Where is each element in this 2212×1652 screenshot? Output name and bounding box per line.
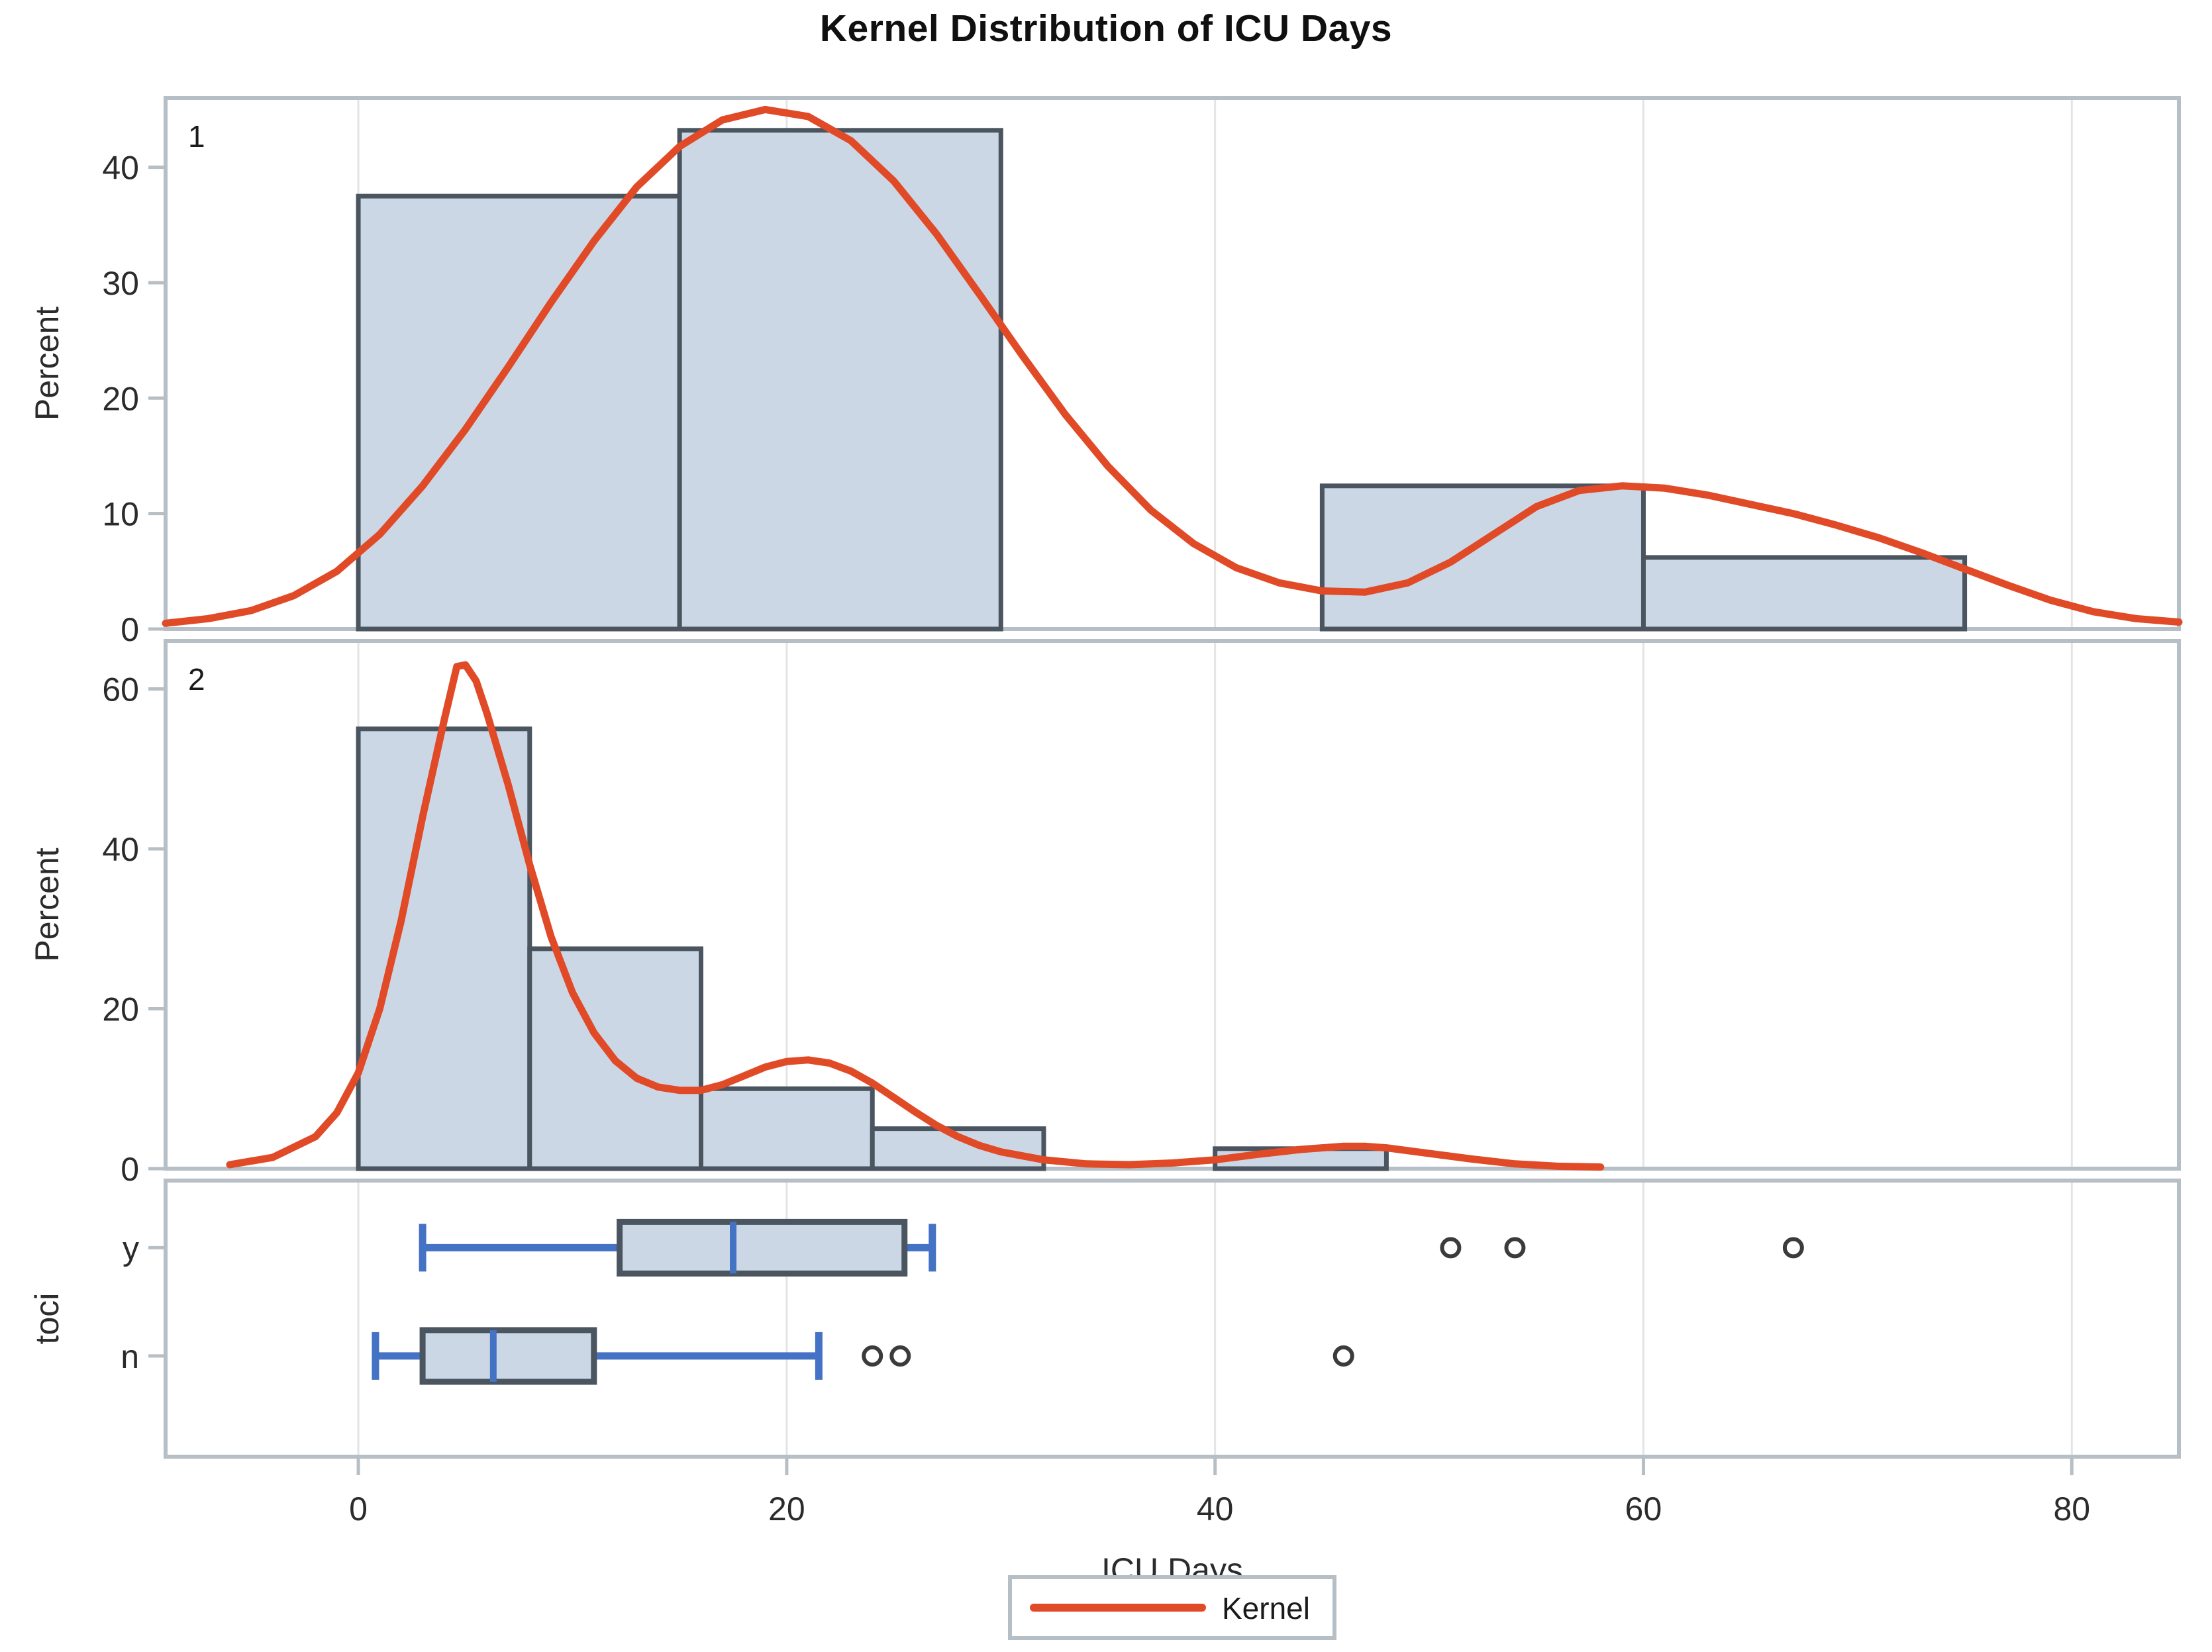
- panel-tag: 2: [188, 662, 205, 697]
- y-axis-tick-label: 10: [102, 496, 139, 533]
- boxplot-outlier: [864, 1347, 881, 1365]
- boxplot-y: [423, 1222, 1802, 1273]
- y-axis-tick-label: 40: [102, 150, 139, 187]
- panel-frame: [166, 1181, 2179, 1457]
- boxplot-outlier: [1335, 1347, 1352, 1365]
- boxplot-category-label: y: [123, 1230, 139, 1267]
- y-axis-tick-label: 20: [102, 380, 139, 417]
- panel-1-histogram: 010203040Percent1: [28, 109, 2179, 648]
- x-axis-tick-label: 60: [1625, 1490, 1662, 1528]
- boxplot-n: [376, 1330, 1352, 1382]
- y-axis-tick-label: 0: [121, 611, 139, 648]
- y-axis-tick-label: 40: [102, 831, 139, 868]
- histogram-bar: [1322, 486, 1643, 629]
- y-axis-tick-label: 20: [102, 991, 139, 1028]
- histogram-bar: [679, 130, 1001, 629]
- panel-3-boxplot: yntoci: [28, 1222, 1802, 1382]
- x-axis-tick-label: 40: [1197, 1490, 1234, 1528]
- histogram-bar: [358, 196, 679, 629]
- boxplot-outlier: [1442, 1239, 1459, 1256]
- boxplot-box: [423, 1330, 594, 1382]
- kernel-distribution-figure: 010203040Percent10204060Percent2yntoci02…: [0, 0, 2212, 1652]
- panel-2-histogram: 0204060Percent2: [28, 662, 1601, 1188]
- page-title: Kernel Distribution of ICU Days: [0, 7, 2212, 50]
- panel-tag: 1: [188, 119, 205, 154]
- y-axis-title: Percent: [28, 307, 66, 420]
- boxplot-box: [620, 1222, 905, 1273]
- y-axis-tick-label: 30: [102, 265, 139, 302]
- y-axis-tick-label: 60: [102, 671, 139, 708]
- histogram-bar: [1643, 558, 1964, 629]
- x-axis-tick-label: 20: [768, 1490, 805, 1528]
- panel-3-boxplot-frame: [166, 1181, 2179, 1457]
- legend-label-kernel: Kernel: [1222, 1591, 1310, 1626]
- histogram-bar: [701, 1089, 873, 1169]
- y-axis-title: Percent: [28, 848, 66, 961]
- legend: Kernel: [1010, 1577, 1334, 1638]
- boxplot-outlier: [1506, 1239, 1523, 1256]
- chart-root: Kernel Distribution of ICU Days 01020304…: [0, 0, 2212, 1652]
- x-axis-tick-label: 0: [349, 1490, 368, 1528]
- y-axis-tick-label: 0: [121, 1151, 139, 1188]
- y-axis-title-toci: toci: [28, 1293, 66, 1345]
- boxplot-outlier: [891, 1347, 909, 1365]
- histogram-bar: [358, 729, 530, 1169]
- boxplot-category-label: n: [121, 1338, 139, 1375]
- x-axis-tick-label: 80: [2053, 1490, 2090, 1528]
- x-axis: 020406080ICU Days: [349, 1457, 2090, 1588]
- boxplot-outlier: [1785, 1239, 1802, 1256]
